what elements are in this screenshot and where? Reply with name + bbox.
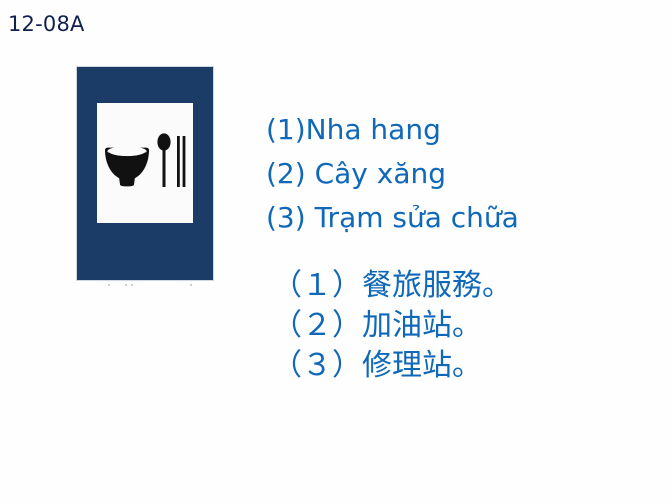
print-artifact xyxy=(125,284,127,286)
print-artifact xyxy=(190,284,192,286)
vietnamese-line-2: (2) Cây xăng xyxy=(266,152,666,196)
chopsticks-icon xyxy=(177,136,185,187)
chinese-line-2: （２）加油站。 xyxy=(272,306,672,346)
rice-bowl-icon xyxy=(105,146,149,186)
chinese-text-block: （１）餐旅服務。 （２）加油站。 （３）修理站。 xyxy=(272,266,672,386)
restaurant-pictogram xyxy=(97,103,193,223)
spoon-icon xyxy=(157,133,170,187)
vietnamese-line-1: (1)Nha hang xyxy=(266,108,666,152)
slide-canvas: 12-08A xyxy=(0,0,672,504)
print-artifact xyxy=(108,284,110,286)
road-sign xyxy=(76,66,214,281)
chinese-line-1: （１）餐旅服務。 xyxy=(272,266,672,306)
print-artifact xyxy=(131,284,133,286)
sign-white-panel xyxy=(97,103,193,223)
slide-code-label: 12-08A xyxy=(8,12,85,36)
vietnamese-text-block: (1)Nha hang (2) Cây xăng (3) Trạm sửa ch… xyxy=(266,108,666,240)
chinese-line-3: （３）修理站。 xyxy=(272,346,672,386)
vietnamese-line-3: (3) Trạm sửa chữa xyxy=(266,196,666,240)
